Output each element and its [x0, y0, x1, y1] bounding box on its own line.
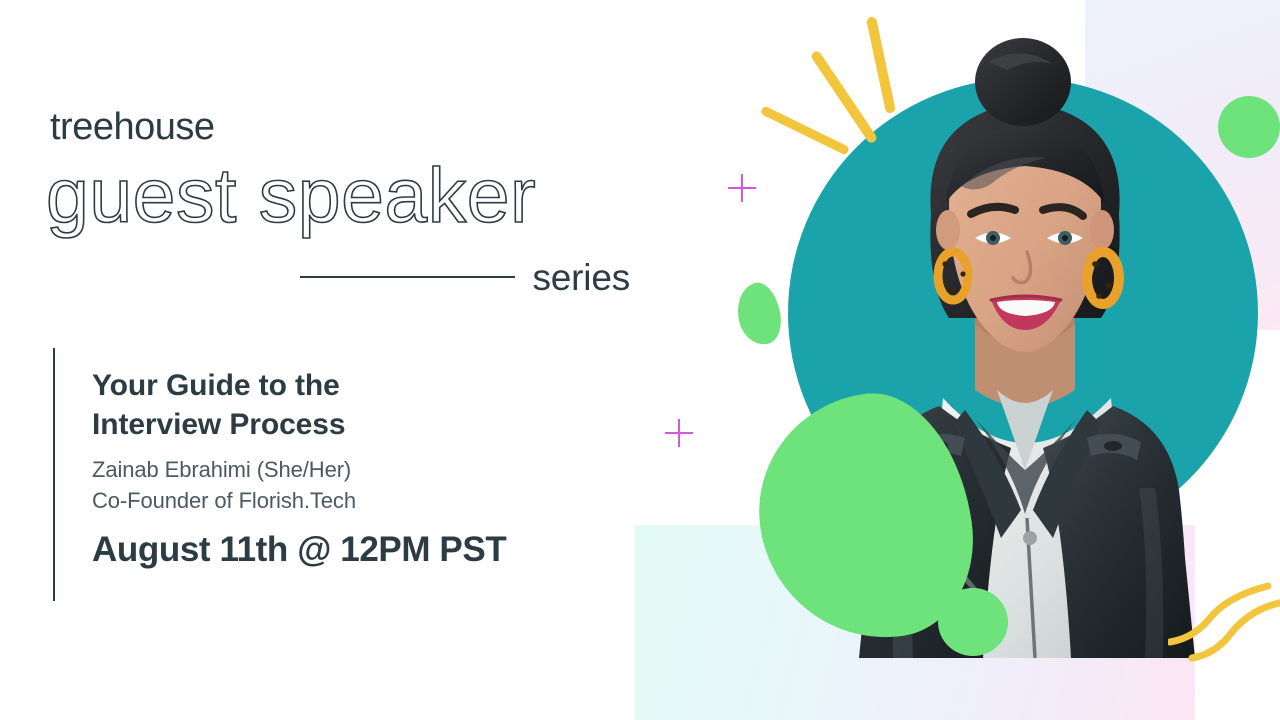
speaker-name: Zainab Ebrahimi (She/Her): [92, 455, 632, 486]
series-row: series: [300, 252, 630, 302]
poster-canvas: treehouse guest speaker series Your Guid…: [0, 0, 1280, 720]
green-dot-bottom: [938, 588, 1008, 656]
series-divider-rule: [300, 276, 515, 278]
headline-series: series: [533, 259, 631, 296]
green-blob-small: [731, 279, 787, 349]
yellow-wave-lines-icon: [1168, 576, 1280, 666]
event-info-block: Your Guide to the Interview Process Zain…: [92, 366, 632, 569]
talk-title-line-2: Interview Process: [92, 405, 632, 444]
plus-mark-upper-icon: [728, 174, 756, 202]
brand-wordmark: treehouse: [50, 108, 215, 146]
event-datetime: August 11th @ 12PM PST: [92, 531, 632, 570]
talk-title-line-1: Your Guide to the: [92, 366, 632, 405]
plus-mark-lower-icon: [665, 419, 693, 447]
left-accent-bar: [53, 348, 55, 601]
headline-guest-speaker: guest speaker: [46, 158, 536, 235]
speaker-role: Co-Founder of Florish.Tech: [92, 486, 632, 517]
green-dot-topright: [1218, 96, 1280, 158]
